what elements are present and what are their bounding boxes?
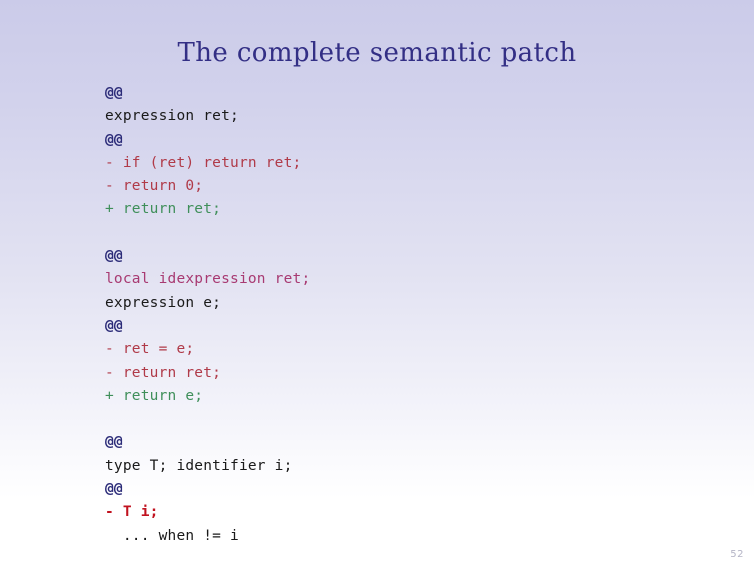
code-line: + return e;	[105, 385, 310, 408]
code-line: type T; identifier i;	[105, 455, 310, 478]
code-line: @@	[105, 431, 310, 454]
code-line: + return ret;	[105, 198, 310, 221]
code-line: - return 0;	[105, 175, 310, 198]
code-line: @@	[105, 315, 310, 338]
page-title: The complete semantic patch	[0, 38, 754, 68]
code-line: ... when != i	[105, 525, 310, 548]
code-line: @@	[105, 82, 310, 105]
code-line: local idexpression ret;	[105, 268, 310, 291]
code-line-blank	[105, 408, 310, 431]
code-line: @@	[105, 129, 310, 152]
code-line: expression e;	[105, 292, 310, 315]
code-line: - return ret;	[105, 362, 310, 385]
code-line: - if (ret) return ret;	[105, 152, 310, 175]
code-line: @@	[105, 245, 310, 268]
page-number: 52	[730, 549, 744, 560]
semantic-patch-code-block: @@expression ret;@@- if (ret) return ret…	[105, 82, 310, 548]
code-line: expression ret;	[105, 105, 310, 128]
code-line-blank	[105, 222, 310, 245]
code-line: @@	[105, 478, 310, 501]
code-line: - T i;	[105, 501, 310, 524]
slide-canvas: The complete semantic patch @@expression…	[0, 0, 754, 566]
code-line: - ret = e;	[105, 338, 310, 361]
